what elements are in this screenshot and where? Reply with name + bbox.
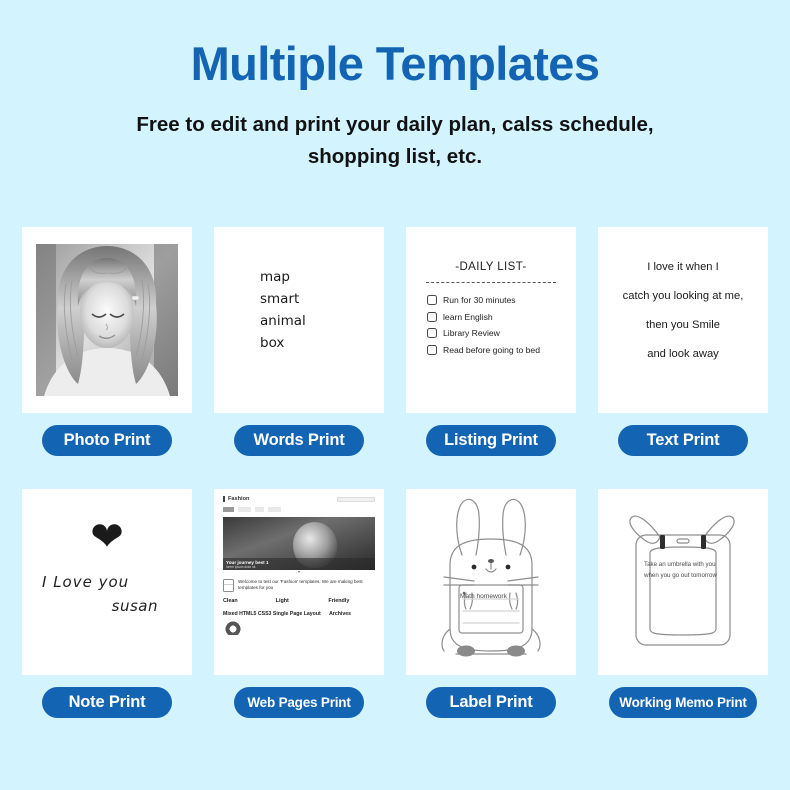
working-memo-print-button[interactable]: Working Memo Print bbox=[609, 687, 756, 718]
checklist-row[interactable]: learn English bbox=[427, 312, 566, 322]
word-item: map bbox=[260, 267, 306, 289]
template-card-label-print: Math homework Label Print bbox=[406, 489, 576, 718]
words-print-button[interactable]: Words Print bbox=[234, 425, 364, 456]
feature-column: Light bbox=[276, 598, 323, 606]
hero-caption-sub: lorem ipsum dolor sit bbox=[223, 565, 375, 569]
text-line: I love it when I bbox=[606, 261, 760, 273]
site-logo: Fashion bbox=[223, 496, 249, 502]
page-title: Multiple Templates bbox=[0, 0, 790, 87]
heart-icon: ❤ bbox=[22, 517, 192, 557]
subtitle-line-2: shopping list, etc. bbox=[45, 141, 745, 173]
checklist-label: learn English bbox=[443, 312, 493, 322]
note-line-1: I Love you bbox=[42, 573, 129, 591]
sidebar-title: Archives bbox=[329, 611, 375, 617]
checklist-label: Library Review bbox=[443, 328, 500, 338]
feature-column: Friendly bbox=[328, 598, 375, 606]
webpage-bottom: Mixed HTML5 CSS3 Single Page Layout Arch… bbox=[223, 611, 375, 635]
checklist-row[interactable]: Run for 30 minutes bbox=[427, 295, 566, 305]
words-list: map smart animal box bbox=[260, 267, 306, 354]
checkbox-icon[interactable] bbox=[427, 328, 437, 338]
checklist-label: Read before going to bed bbox=[443, 345, 540, 355]
word-item: box bbox=[260, 333, 306, 355]
template-card-web-pages-print: Fashion Your journey best 1 lorem ips bbox=[214, 489, 384, 718]
checklist: Run for 30 minutes learn English Library… bbox=[427, 295, 566, 361]
template-card-photo-print: Photo Print bbox=[22, 227, 192, 456]
webpage-nav bbox=[223, 507, 375, 512]
welcome-block: Welcome to test our 'Fashion' templates.… bbox=[223, 579, 375, 593]
feature-columns: Clean Light Friendly bbox=[223, 598, 375, 606]
hero-caption-title: Your journey best 1 bbox=[223, 558, 375, 565]
feature-column: Clean bbox=[223, 598, 270, 606]
article-row bbox=[223, 620, 324, 635]
portrait-graphic bbox=[36, 244, 178, 396]
article-thumbnail bbox=[223, 620, 243, 635]
hero-caption: Your journey best 1 lorem ipsum dolor si… bbox=[223, 558, 375, 570]
feature-title: Friendly bbox=[328, 598, 375, 604]
nav-item-home bbox=[223, 507, 234, 512]
nav-item-contact bbox=[268, 507, 281, 512]
template-grid: Photo Print map smart animal box Words P… bbox=[22, 227, 768, 718]
text-print-button[interactable]: Text Print bbox=[618, 425, 748, 456]
article-text bbox=[246, 620, 324, 635]
listing-print-button[interactable]: Listing Print bbox=[426, 425, 556, 456]
memo-note-text: Take an umbrella with you when you go ou… bbox=[644, 560, 720, 582]
checklist-row[interactable]: Read before going to bed bbox=[427, 345, 566, 355]
template-card-listing-print: -DAILY LIST- Run for 30 minutes learn En… bbox=[406, 227, 576, 456]
memo-badge-graphic bbox=[598, 489, 768, 675]
preview-label-print[interactable]: Math homework bbox=[406, 489, 576, 675]
word-item: animal bbox=[260, 311, 306, 333]
checkbox-icon[interactable] bbox=[427, 295, 437, 305]
note-line-2: susan bbox=[112, 597, 158, 615]
preview-photo-print[interactable] bbox=[22, 227, 192, 413]
rabbit-label-graphic bbox=[406, 489, 576, 675]
nav-item-gallery bbox=[238, 507, 251, 512]
bottom-article: Mixed HTML5 CSS3 Single Page Layout bbox=[223, 611, 324, 635]
archives-sidebar: Archives bbox=[329, 611, 375, 635]
carousel-dot-icon: • bbox=[223, 571, 375, 576]
preview-working-memo-print[interactable]: Take an umbrella with you when you go ou… bbox=[598, 489, 768, 675]
hero-image: Your journey best 1 lorem ipsum dolor si… bbox=[223, 517, 375, 570]
photo-print-button[interactable]: Photo Print bbox=[42, 425, 172, 456]
webpage-header: Fashion bbox=[223, 496, 375, 502]
template-card-text-print: I love it when I catch you looking at me… bbox=[598, 227, 768, 456]
text-line: and look away bbox=[606, 348, 760, 360]
web-pages-print-button[interactable]: Web Pages Print bbox=[234, 687, 364, 718]
text-block: I love it when I catch you looking at me… bbox=[606, 261, 760, 377]
daily-list-title: -DAILY LIST- bbox=[406, 261, 576, 273]
bottom-headline: Mixed HTML5 CSS3 Single Page Layout bbox=[223, 611, 324, 617]
note-print-button[interactable]: Note Print bbox=[42, 687, 172, 718]
dashed-divider bbox=[426, 282, 556, 283]
template-card-note-print: ❤ I Love you susan Note Print bbox=[22, 489, 192, 718]
preview-words-print[interactable]: map smart animal box bbox=[214, 227, 384, 413]
checklist-row[interactable]: Library Review bbox=[427, 328, 566, 338]
label-note-text: Math homework bbox=[460, 593, 507, 600]
checkbox-icon[interactable] bbox=[427, 345, 437, 355]
preview-note-print[interactable]: ❤ I Love you susan bbox=[22, 489, 192, 675]
template-card-words-print: map smart animal box Words Print bbox=[214, 227, 384, 456]
text-line: then you Smile bbox=[606, 319, 760, 331]
word-item: smart bbox=[260, 289, 306, 311]
webpage-mockup: Fashion Your journey best 1 lorem ips bbox=[214, 489, 384, 675]
checkbox-icon[interactable] bbox=[427, 312, 437, 322]
label-print-button[interactable]: Label Print bbox=[426, 687, 556, 718]
search-icon bbox=[337, 497, 375, 502]
welcome-text: Welcome to test our 'Fashion' templates.… bbox=[238, 579, 375, 593]
preview-web-pages-print[interactable]: Fashion Your journey best 1 lorem ips bbox=[214, 489, 384, 675]
photo-frame bbox=[22, 227, 192, 413]
checklist-label: Run for 30 minutes bbox=[443, 295, 516, 305]
subtitle-line-1: Free to edit and print your daily plan, … bbox=[45, 109, 745, 141]
document-icon bbox=[223, 579, 234, 592]
page-root: Multiple Templates Free to edit and prin… bbox=[0, 0, 790, 790]
feature-title: Clean bbox=[223, 598, 270, 604]
preview-listing-print[interactable]: -DAILY LIST- Run for 30 minutes learn En… bbox=[406, 227, 576, 413]
preview-text-print[interactable]: I love it when I catch you looking at me… bbox=[598, 227, 768, 413]
template-card-working-memo-print: Take an umbrella with you when you go ou… bbox=[598, 489, 768, 718]
feature-title: Light bbox=[276, 598, 323, 604]
girl-portrait-photo bbox=[36, 244, 178, 396]
nav-item-about bbox=[255, 507, 264, 512]
text-line: catch you looking at me, bbox=[606, 290, 760, 302]
page-subtitle: Free to edit and print your daily plan, … bbox=[45, 109, 745, 173]
